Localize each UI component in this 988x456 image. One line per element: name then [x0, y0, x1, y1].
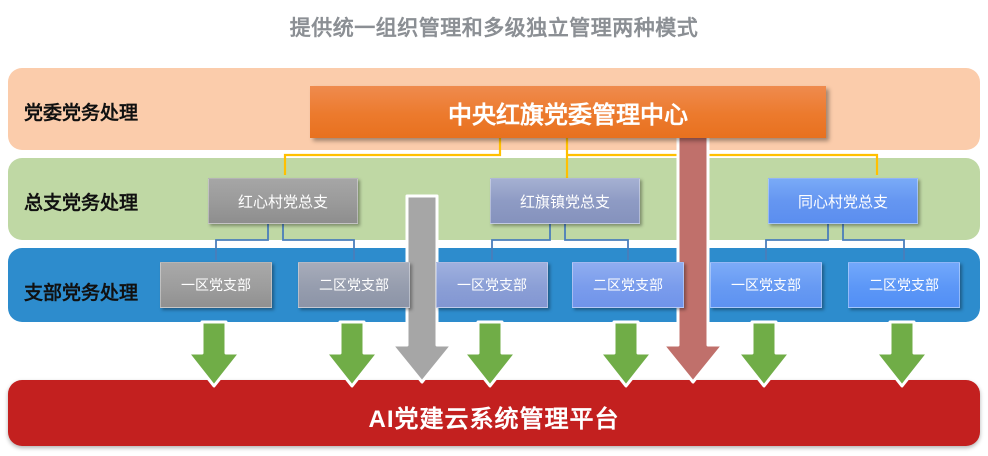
platform-title: AI党建云系统管理平台: [0, 399, 988, 434]
node-party-branch-4[interactable]: 二区党支部: [572, 262, 684, 308]
arrow-green-group: [188, 322, 928, 386]
node-general-branch-3[interactable]: 同心村党总支: [768, 178, 918, 224]
node-party-branch-6[interactable]: 二区党支部: [848, 262, 960, 308]
node-party-branch-5[interactable]: 一区党支部: [710, 262, 822, 308]
arrow-green-5: [738, 322, 790, 386]
arrow-green-6: [876, 322, 928, 386]
band-label-level1: 党委党务处理: [24, 98, 138, 125]
node-party-branch-2[interactable]: 二区党支部: [298, 262, 410, 308]
diagram-canvas: 提供统一组织管理和多级独立管理两种模式: [0, 0, 988, 456]
node-party-branch-1[interactable]: 一区党支部: [160, 262, 272, 308]
band-label-level3: 支部党务处理: [24, 278, 138, 305]
node-general-branch-2[interactable]: 红旗镇党总支: [490, 178, 640, 224]
arrow-green-4: [600, 322, 652, 386]
node-general-branch-1[interactable]: 红心村党总支: [208, 178, 358, 224]
node-party-branch-3[interactable]: 一区党支部: [436, 262, 548, 308]
page-title: 提供统一组织管理和多级独立管理两种模式: [0, 12, 988, 42]
node-central-party-committee-center[interactable]: 中央红旗党委管理中心: [310, 86, 826, 138]
arrow-green-1: [188, 322, 240, 386]
arrow-green-2: [326, 322, 378, 386]
band-label-level2: 总支党务处理: [24, 188, 138, 215]
arrow-green-3: [464, 322, 516, 386]
